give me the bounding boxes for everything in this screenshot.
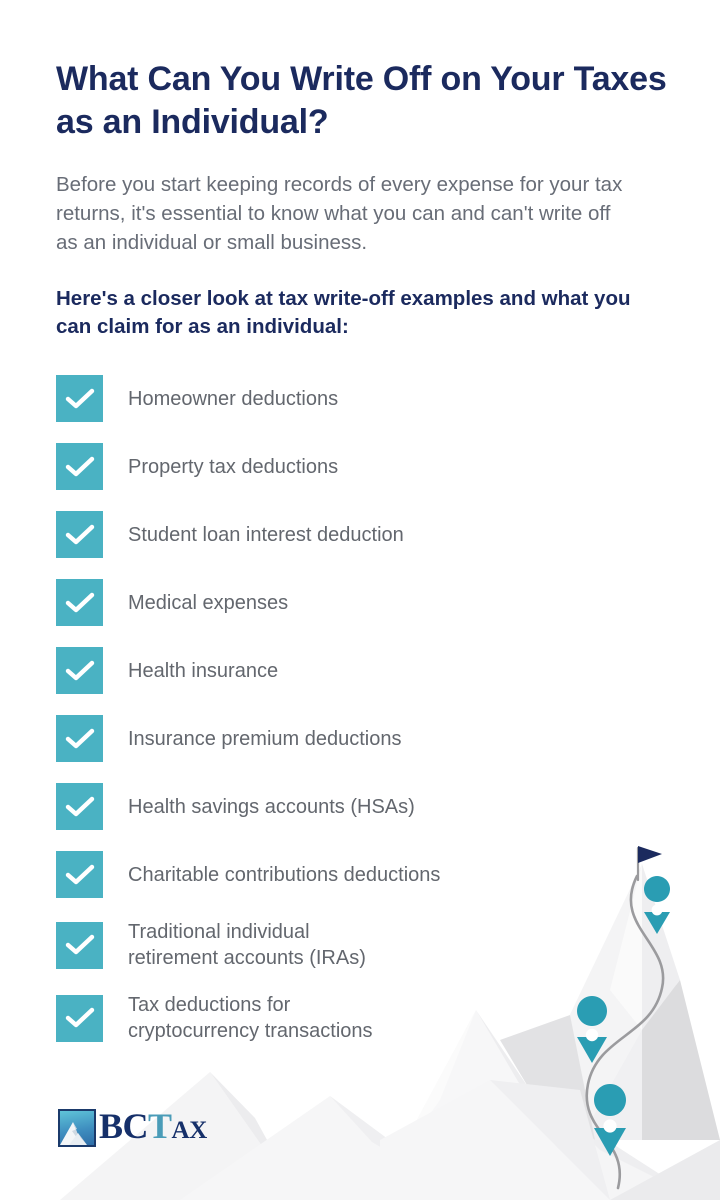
list-item-label: Insurance premium deductions: [128, 726, 401, 752]
list-item-line1: Health insurance: [128, 660, 278, 682]
list-item-line2: retirement accounts (IRAs): [128, 945, 366, 971]
list-item-label: Property tax deductions: [128, 454, 338, 480]
list-item-line1: Property tax deductions: [128, 456, 338, 478]
list-item[interactable]: Health insurance: [56, 647, 676, 694]
logo-t: T: [148, 1106, 172, 1146]
list-item[interactable]: Traditional individual retirement accoun…: [56, 919, 676, 971]
list-item-line1: Health savings accounts (HSAs): [128, 796, 415, 818]
list-item[interactable]: Homeowner deductions: [56, 375, 676, 422]
list-item-label: Health savings accounts (HSAs): [128, 794, 415, 820]
content-column: What Can You Write Off on Your Taxes as …: [56, 0, 676, 1065]
list-item-line1: Student loan interest deduction: [128, 524, 404, 546]
checkmark-icon[interactable]: [56, 995, 103, 1042]
checkmark-icon[interactable]: [56, 715, 103, 762]
subheading: Here's a closer look at tax write-off ex…: [56, 285, 636, 341]
checkmark-icon[interactable]: [56, 922, 103, 969]
checkmark-icon[interactable]: [56, 375, 103, 422]
list-item-label: Traditional individual retirement accoun…: [128, 919, 366, 971]
list-item-line1: Charitable contributions deductions: [128, 864, 440, 886]
checkmark-icon[interactable]: [56, 511, 103, 558]
list-item[interactable]: Insurance premium deductions: [56, 715, 676, 762]
checkmark-icon[interactable]: [56, 783, 103, 830]
list-item[interactable]: Health savings accounts (HSAs): [56, 783, 676, 830]
list-item-line1: Traditional individual: [128, 921, 310, 943]
list-item-label: Student loan interest deduction: [128, 522, 404, 548]
list-item-line1: Homeowner deductions: [128, 388, 338, 410]
list-item[interactable]: Medical expenses: [56, 579, 676, 626]
list-item[interactable]: Charitable contributions deductions: [56, 851, 676, 898]
list-item-label: Homeowner deductions: [128, 386, 338, 412]
mountain-icon: [58, 1109, 96, 1147]
logo-wordmark: BCTAX: [99, 1109, 207, 1152]
list-item-line1: Tax deductions for: [128, 994, 290, 1016]
list-item-label: Medical expenses: [128, 590, 288, 616]
list-item-line1: Medical expenses: [128, 592, 288, 614]
list-item-label: Charitable contributions deductions: [128, 862, 440, 888]
logo-bc: BC: [99, 1106, 148, 1146]
page-title: What Can You Write Off on Your Taxes as …: [56, 0, 671, 144]
checkmark-icon[interactable]: [56, 579, 103, 626]
infographic-page: What Can You Write Off on Your Taxes as …: [0, 0, 720, 1200]
list-item-label: Health insurance: [128, 658, 278, 684]
checkmark-icon[interactable]: [56, 851, 103, 898]
intro-paragraph: Before you start keeping records of ever…: [56, 170, 636, 257]
list-item-label: Tax deductions for cryptocurrency transa…: [128, 992, 373, 1044]
list-item-line2: cryptocurrency transactions: [128, 1018, 373, 1044]
list-item[interactable]: Tax deductions for cryptocurrency transa…: [56, 992, 676, 1044]
bctax-logo[interactable]: BCTAX: [58, 1109, 207, 1152]
list-item-line1: Insurance premium deductions: [128, 728, 401, 750]
list-item[interactable]: Student loan interest deduction: [56, 511, 676, 558]
map-pin-icon: [594, 1084, 626, 1156]
logo-ax: AX: [172, 1117, 208, 1144]
logo-text: BCTAX: [99, 1106, 207, 1146]
list-item[interactable]: Property tax deductions: [56, 443, 676, 490]
checkmark-icon[interactable]: [56, 443, 103, 490]
deductions-checklist: Homeowner deductions Property tax deduct…: [56, 375, 676, 1044]
checkmark-icon[interactable]: [56, 647, 103, 694]
